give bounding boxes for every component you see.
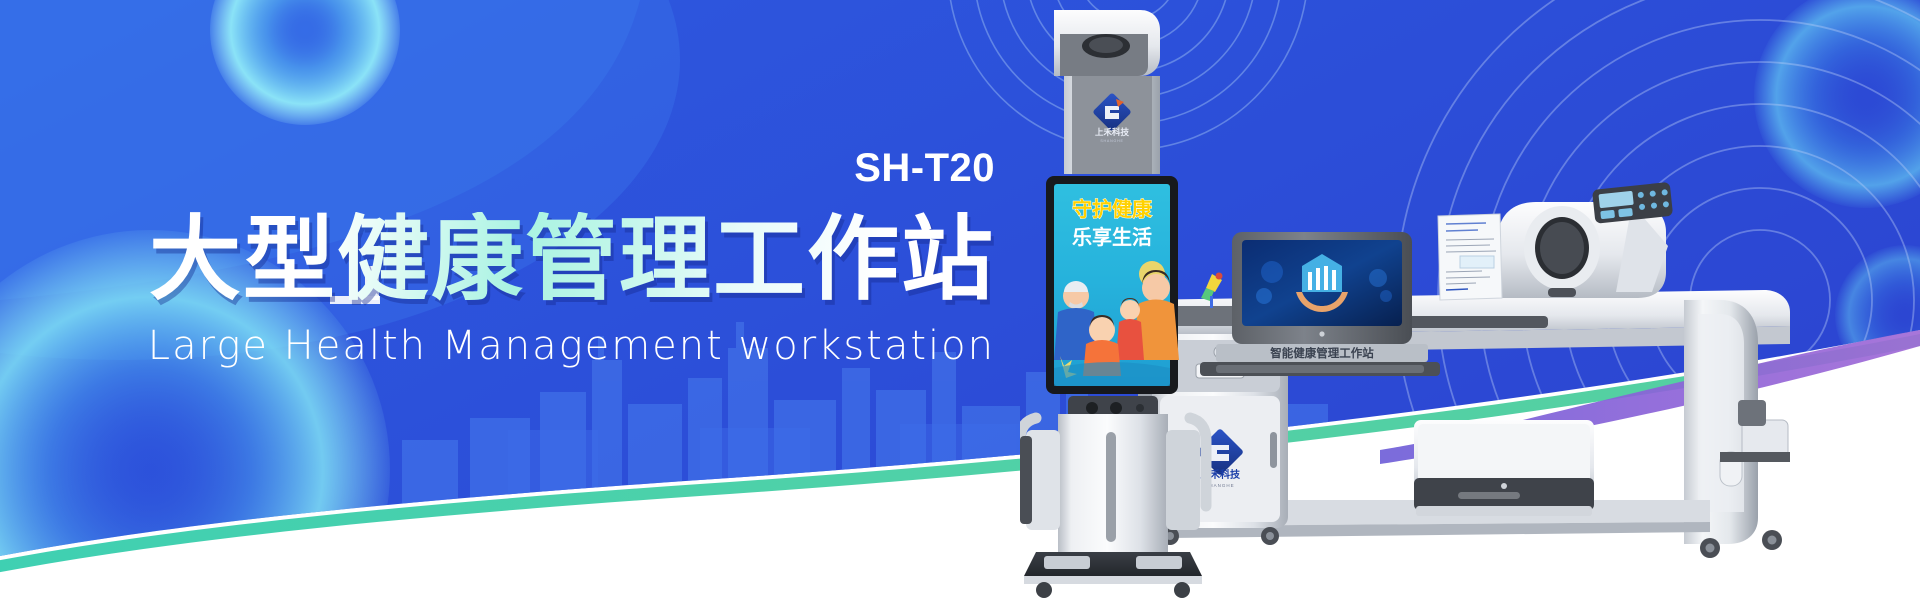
kiosk-logo-text: 上禾科技	[1095, 127, 1130, 138]
monitor-label: 智能健康管理工作站	[1270, 346, 1374, 360]
ad-headline-1: 守护健康	[1072, 197, 1153, 221]
promo-banner: SH-T20 大型健康管理工作站 Large Health Management…	[0, 0, 1920, 600]
page-subtitle: Large Health Management workstation	[0, 324, 995, 368]
desk-monitor: 智能健康管理工作站	[1200, 232, 1440, 376]
headline-block: SH-T20 大型健康管理工作站 Large Health Management…	[0, 0, 1050, 368]
kiosk-logo-sub: SHANGHE	[1100, 139, 1123, 143]
ad-headline-2: 乐享生活	[1072, 225, 1152, 249]
page-title: 大型健康管理工作站	[0, 212, 995, 308]
blood-pressure-monitor	[1498, 182, 1673, 298]
model-code: SH-T20	[0, 148, 995, 188]
printer	[1414, 420, 1594, 516]
product-illustration: 上禾科技 SHANGHE	[1020, 0, 1920, 600]
report-printout	[1438, 214, 1502, 300]
